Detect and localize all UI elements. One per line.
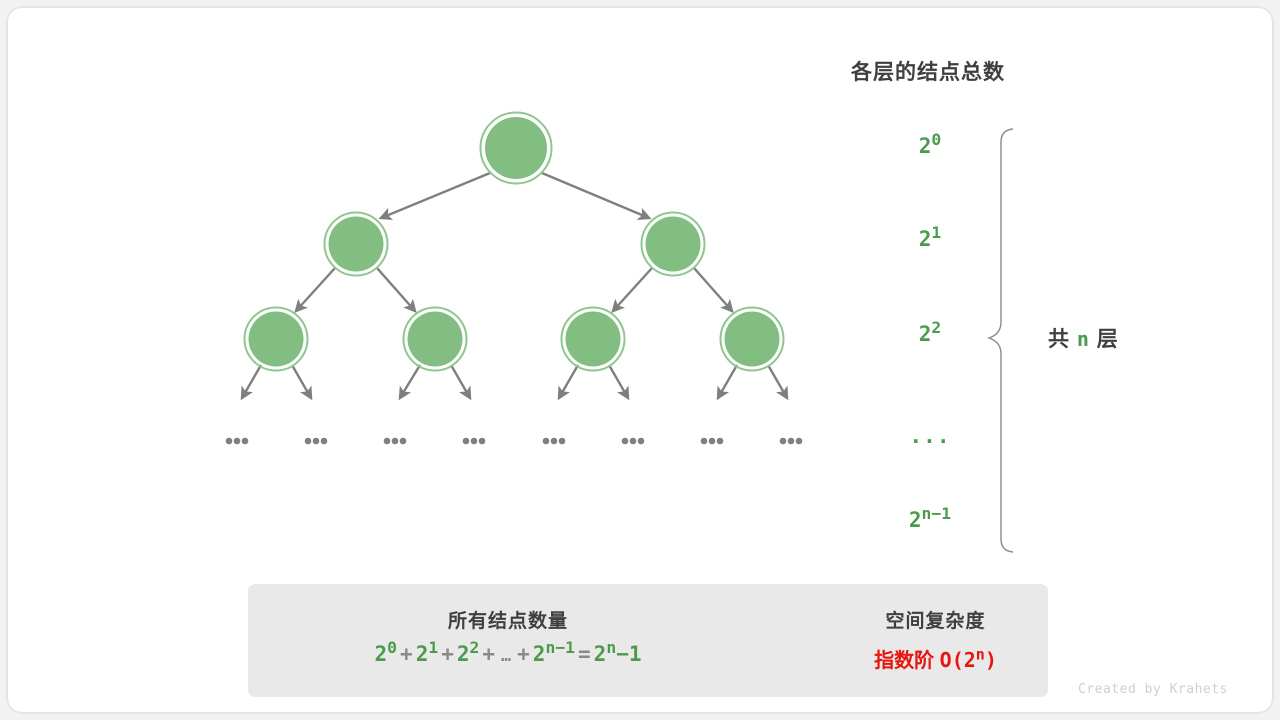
credit-text: Created by Krahets (1078, 682, 1228, 697)
space-complexity-value: 指数阶 O(2n) (828, 644, 1043, 673)
tree-edges (242, 173, 787, 398)
level-label-last: 2n−1 (870, 508, 990, 532)
level-label-0: 20 (870, 134, 990, 158)
all-nodes-title: 所有结点数量 (248, 606, 768, 633)
level-label-2: 22 (870, 322, 990, 346)
level-brace (989, 129, 1013, 552)
figure-card: 各层的结点总数 (8, 8, 1272, 712)
space-complexity-title: 空间复杂度 (828, 606, 1043, 633)
tree-nodes (245, 113, 784, 371)
all-nodes-formula: 20+21+22+…+2n−1=2n−1 (248, 642, 768, 666)
tree-ellipsis-row (226, 438, 803, 445)
level-label-ellipsis: ... (870, 424, 990, 448)
level-label-1: 21 (870, 227, 990, 251)
total-levels-label: 共 n 层 (1048, 323, 1119, 353)
summary-panel (248, 584, 1048, 697)
